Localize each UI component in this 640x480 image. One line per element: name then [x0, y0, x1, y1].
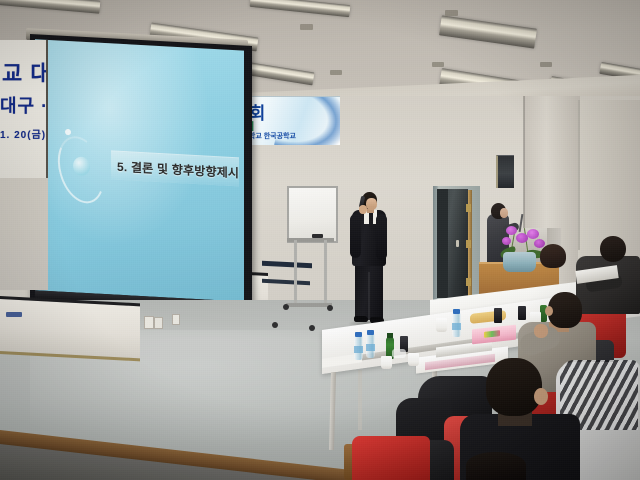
event-banner-white: 교 대 대구 · 1. 20(금) 1 — [0, 40, 48, 178]
presenter-leg-separation — [368, 272, 370, 320]
bottle-cap — [387, 333, 393, 338]
podium-speaker-face — [500, 208, 508, 218]
paper-cup — [381, 356, 392, 369]
ceiling-vent — [300, 24, 313, 30]
ceiling-vent — [330, 70, 342, 75]
door-hinge — [466, 240, 471, 248]
door-knob[interactable] — [456, 240, 459, 247]
audience-member-ear — [534, 388, 548, 405]
caster-wheel — [283, 304, 289, 310]
bottle-label — [354, 346, 363, 353]
whiteboard-stand-base — [286, 303, 332, 307]
beverage-can — [494, 308, 502, 323]
banner-left-wall-strip — [0, 178, 48, 290]
wall-outlet — [144, 316, 154, 329]
caster-wheel — [309, 325, 315, 331]
paper-cup — [392, 349, 406, 358]
audience-member-hand — [534, 324, 548, 338]
wall-outlet — [172, 314, 180, 325]
heater-brand-logo — [6, 312, 22, 317]
bottle-cap — [355, 332, 362, 337]
ceiling-light — [250, 0, 351, 17]
whiteboard-stand-post — [294, 240, 297, 305]
orchid-bloom — [502, 237, 511, 245]
audience-member-head — [466, 452, 526, 480]
door-hinge — [466, 278, 471, 286]
paper-cup — [436, 318, 447, 332]
orchid-bloom — [506, 226, 517, 235]
baseboard-heater-unit — [0, 296, 140, 361]
ceiling-vent — [540, 62, 552, 67]
ceiling-vent — [445, 10, 458, 16]
wall-outlet — [154, 317, 163, 329]
paper-cup — [408, 353, 419, 366]
slide-circle-accent — [73, 156, 90, 176]
banner-left-line3: 1. 20(금) 1 — [0, 126, 48, 141]
whiteboard-stand-post — [324, 240, 327, 305]
bottle-cap — [367, 330, 374, 335]
bottle-cap — [453, 309, 460, 314]
door-hinge — [466, 204, 471, 212]
table-leg — [358, 370, 362, 430]
slide-title-text: 5. 결론 및 향후방향제시 — [111, 157, 239, 181]
presenter-arm-right — [376, 214, 387, 260]
beverage-can — [518, 306, 526, 320]
projection-screen: 5. 결론 및 향후방향제시 — [30, 34, 252, 318]
wall-seam — [578, 100, 580, 250]
slide-title-band: 5. 결론 및 향후방향제시 — [111, 150, 239, 186]
caster-wheel — [272, 322, 278, 328]
bottle-label — [366, 344, 375, 351]
ceiling-light — [0, 0, 100, 14]
orchid-pot — [503, 252, 536, 272]
audience-member-head — [600, 236, 626, 262]
whiteboard-marker — [312, 234, 323, 238]
lecture-hall-photo: 표회 표회 구대학교 한국공학교 5. 결론 및 향후방향제시 교 대 대구 ·… — [0, 0, 640, 480]
wall-speaker — [496, 155, 514, 188]
audience-member-head — [548, 292, 582, 328]
caster-wheel — [327, 305, 333, 311]
presenter-face — [366, 198, 377, 210]
ceiling-light — [439, 15, 537, 48]
presenter-shoe — [354, 316, 368, 322]
audience-member-ear — [545, 306, 553, 316]
banner-left-line2: 대구 · — [0, 92, 48, 118]
orchid-bloom — [527, 229, 539, 239]
auditorium-seat — [352, 436, 430, 480]
bottle-label — [452, 323, 461, 330]
audience-member-head — [540, 244, 566, 268]
presenter-arm-left — [350, 214, 361, 258]
presenter-necktie — [369, 211, 373, 227]
presenter-hand — [359, 205, 367, 214]
banner-left-line1: 교 대 — [2, 56, 48, 88]
screen-surface: 5. 결론 및 향후방향제시 — [35, 39, 244, 301]
doorway-opening — [437, 189, 448, 298]
ceiling-vent — [432, 62, 444, 67]
slide-dot-decor — [65, 129, 71, 135]
audience-member-head — [486, 358, 542, 416]
